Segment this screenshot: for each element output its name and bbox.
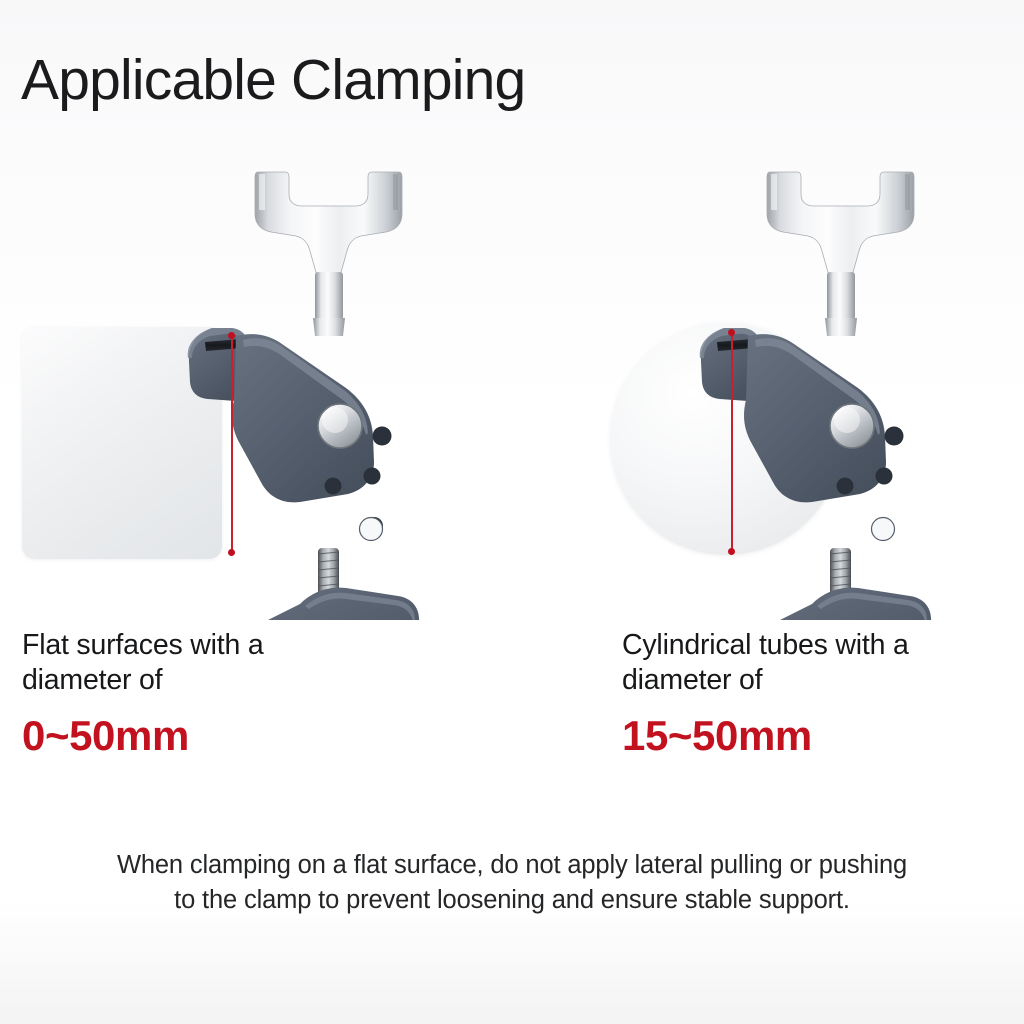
super-clamp-icon — [512, 150, 1024, 620]
caption-line-2: diameter of — [622, 663, 909, 698]
caption-flat-surface: Flat surfaces with a diameter of 0~50mm — [22, 628, 264, 757]
footer-line-2: to the clamp to prevent loosening and en… — [0, 883, 1024, 918]
panel-flat-surface — [0, 150, 512, 620]
caption-line-1: Flat surfaces with a — [22, 628, 264, 663]
super-clamp-icon — [0, 150, 512, 620]
range-value-left: 0~50mm — [22, 715, 264, 757]
caption-line-1: Cylindrical tubes with a — [622, 628, 909, 663]
caption-line-2: diameter of — [22, 663, 264, 698]
measurement-line-icon — [728, 332, 735, 552]
footer-line-1: When clamping on a flat surface, do not … — [0, 848, 1024, 883]
t-knob-icon — [767, 172, 914, 276]
through-hole — [872, 518, 895, 541]
clamp-assembly-left — [0, 150, 512, 620]
t-knob-icon — [255, 172, 402, 276]
clamp-assembly-right — [512, 150, 1024, 620]
caption-cylindrical-tube: Cylindrical tubes with a diameter of 15~… — [622, 628, 909, 757]
page-title: Applicable Clamping — [21, 52, 525, 109]
panel-cylindrical-tube — [512, 150, 1024, 620]
infographic-page: Applicable Clamping — [0, 0, 1024, 1024]
range-value-right: 15~50mm — [622, 715, 909, 757]
footer-note: When clamping on a flat surface, do not … — [0, 848, 1024, 918]
through-hole — [360, 518, 383, 541]
measurement-line-icon — [228, 335, 235, 553]
